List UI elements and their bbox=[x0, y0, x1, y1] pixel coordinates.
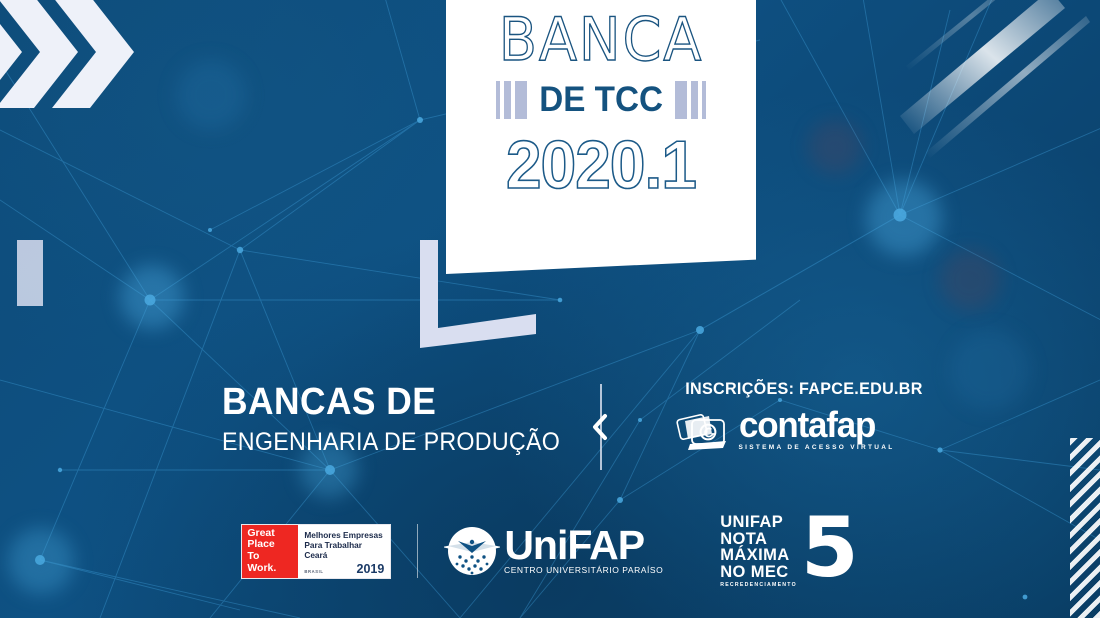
gptw-white-panel: Melhores Empresas Para Trabalhar Ceará B… bbox=[298, 525, 390, 578]
email-tablet-icon bbox=[676, 408, 732, 452]
contafap-tagline: SISTEMA DE ACESSO VIRTUAL bbox=[739, 444, 895, 451]
banner-poster: BANCA DE TCC 2020.1 BANCAS DE ENGENHARIA… bbox=[0, 0, 1100, 618]
gptw-right-1: Melhores Empresas bbox=[304, 530, 385, 540]
triple-chevron-right-icon bbox=[0, 0, 160, 112]
registration-block: INSCRIÇÕES: FAPCE.EDU.BR contafap SISTEM… bbox=[680, 379, 890, 452]
headline-main: BANCAS DE bbox=[222, 383, 560, 421]
bird-globe-icon bbox=[444, 523, 500, 579]
headline-sub: ENGENHARIA DE PRODUÇÃO bbox=[222, 430, 560, 455]
unifap-nota-maxima-badge: UNIFAP NOTA MÁXIMA NO MEC RECREDENCIAMEN… bbox=[720, 514, 858, 589]
nota-line-4: NO MEC bbox=[720, 564, 788, 581]
gptw-line-4: Work. bbox=[247, 563, 298, 575]
decorative-bars-left bbox=[496, 81, 527, 119]
registration-label: INSCRIÇÕES: FAPCE.EDU.BR bbox=[685, 379, 885, 399]
contafap-logo[interactable]: contafap SISTEMA DE ACESSO VIRTUAL bbox=[680, 408, 890, 452]
card-title: BANCA bbox=[499, 12, 704, 70]
headline-block: BANCAS DE ENGENHARIA DE PRODUÇÃO bbox=[222, 383, 586, 455]
gptw-red-panel: Great Place To Work. bbox=[242, 525, 298, 578]
partner-logo-row: Great Place To Work. Melhores Empresas P… bbox=[0, 508, 1100, 594]
gptw-right-2: Para Trabalhar bbox=[304, 540, 385, 550]
unifap-tagline: CENTRO UNIVERSITÁRIO PARAÍSO bbox=[504, 565, 663, 575]
nota-line-3: MÁXIMA bbox=[720, 547, 789, 564]
gptw-right-3: Ceará bbox=[304, 550, 385, 560]
nota-line-1: UNIFAP bbox=[720, 514, 783, 531]
diagonal-light-streaks bbox=[900, 0, 1100, 170]
title-card: BANCA DE TCC 2020.1 bbox=[446, 0, 756, 274]
card-year: 2020.1 bbox=[506, 126, 696, 204]
logo-divider bbox=[417, 524, 418, 578]
card-subtitle-row: DE TCC bbox=[496, 80, 706, 120]
nota-tagline: RECREDENCIAMENTO bbox=[720, 583, 797, 588]
unifap-name: UniFAP bbox=[504, 527, 644, 563]
chevron-left-icon bbox=[588, 384, 614, 470]
gptw-country: BRASIL bbox=[304, 569, 323, 574]
lavender-accent-tab bbox=[17, 240, 43, 306]
card-subtitle: DE TCC bbox=[539, 80, 663, 120]
nota-line-2: NOTA bbox=[720, 531, 767, 548]
gptw-line-3: To bbox=[247, 551, 298, 563]
nota-grade: 5 bbox=[801, 518, 859, 578]
contafap-name: contafap bbox=[739, 409, 875, 441]
unifap-logo: UniFAP CENTRO UNIVERSITÁRIO PARAÍSO bbox=[444, 523, 665, 579]
great-place-to-work-badge: Great Place To Work. Melhores Empresas P… bbox=[241, 524, 391, 579]
gptw-year: 2019 bbox=[357, 562, 385, 576]
decorative-bars-right bbox=[675, 81, 706, 119]
